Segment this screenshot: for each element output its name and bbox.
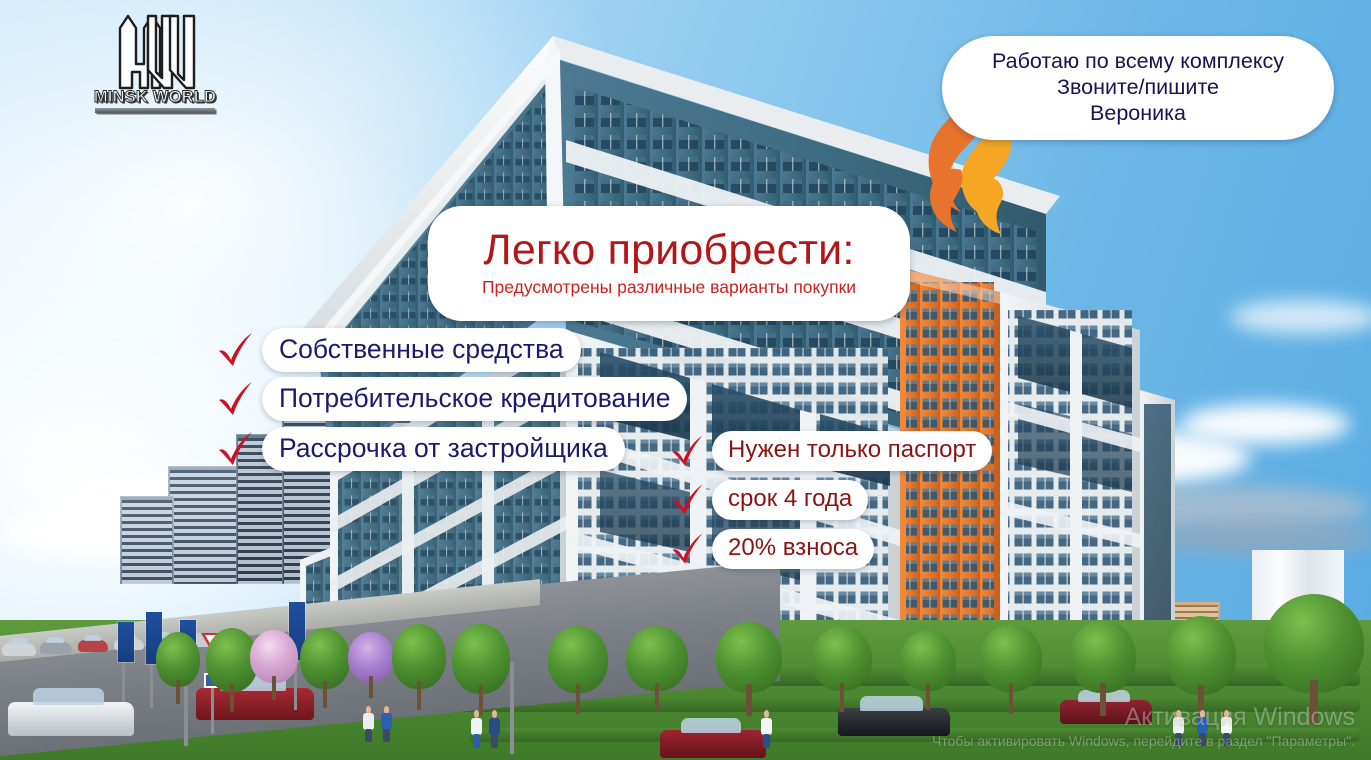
pedestrian	[380, 706, 393, 742]
street-scene	[0, 570, 1371, 760]
mw-monogram-icon	[92, 14, 218, 90]
tree	[812, 626, 872, 712]
contact-callout[interactable]: Работаю по всему комплексу Звоните/пишит…	[942, 36, 1334, 140]
logo-wordmark: MINSK WORLD	[92, 88, 218, 107]
parked-car	[78, 640, 108, 652]
pedestrian	[470, 710, 483, 748]
blossom-tree	[348, 632, 394, 698]
tree	[392, 624, 446, 710]
logo-underbar	[95, 108, 215, 113]
car	[8, 702, 134, 736]
pedestrian	[1220, 710, 1233, 746]
tree	[300, 628, 350, 708]
car	[838, 708, 950, 736]
pedestrian	[1172, 710, 1185, 746]
parked-car	[2, 643, 36, 656]
headline-subtitle: Предусмотрены различные варианты покупки	[482, 276, 856, 298]
tree	[452, 624, 510, 716]
term-pill: срок 4 года	[712, 480, 868, 520]
list-item[interactable]: срок 4 года	[668, 480, 868, 520]
street-banner	[118, 622, 134, 662]
tree	[1070, 620, 1136, 716]
term-pill: Нужен только паспорт	[712, 431, 992, 471]
contact-line-1: Работаю по всему комплексу	[992, 48, 1284, 74]
tree	[900, 630, 956, 710]
term-pill: 20% взноса	[712, 529, 874, 569]
check-mark-icon	[214, 378, 256, 420]
parked-car	[40, 642, 72, 654]
tree	[548, 626, 608, 714]
pedestrian	[488, 710, 501, 748]
tree	[980, 624, 1042, 714]
list-item[interactable]: Рассрочка от застройщика	[214, 427, 625, 471]
list-item[interactable]: Потребительское кредитование	[214, 377, 687, 421]
contact-line-3: Вероника	[1090, 100, 1186, 126]
check-mark-icon	[668, 480, 706, 520]
option-pill: Собственные средства	[262, 328, 581, 372]
pedestrian	[362, 706, 375, 742]
headline-title: Легко приобрести:	[483, 225, 854, 275]
check-mark-icon	[668, 529, 706, 569]
tree	[1264, 594, 1364, 724]
check-mark-icon	[668, 431, 706, 471]
list-item[interactable]: Собственные средства	[214, 328, 581, 372]
tree	[716, 622, 782, 716]
list-item[interactable]: Нужен только паспорт	[668, 431, 992, 471]
option-pill: Потребительское кредитование	[262, 377, 687, 421]
lamp-post	[510, 662, 514, 754]
option-pill: Рассрочка от застройщика	[262, 427, 625, 471]
headline-card: Легко приобрести: Предусмотрены различны…	[428, 206, 910, 321]
contact-line-2: Звоните/пишите	[1057, 74, 1219, 100]
minsk-world-logo[interactable]: MINSK WORLD	[92, 14, 218, 118]
check-mark-icon	[214, 428, 256, 470]
tree	[1166, 616, 1236, 720]
pedestrian	[1196, 710, 1209, 746]
check-mark-icon	[214, 329, 256, 371]
blossom-tree	[250, 630, 298, 700]
tree	[626, 626, 688, 712]
poster-canvas: MINSK WORLD Работаю по всему комплексу З…	[0, 0, 1371, 760]
list-item[interactable]: 20% взноса	[668, 529, 874, 569]
tree	[156, 632, 200, 704]
car	[660, 730, 766, 758]
pedestrian	[760, 710, 773, 748]
